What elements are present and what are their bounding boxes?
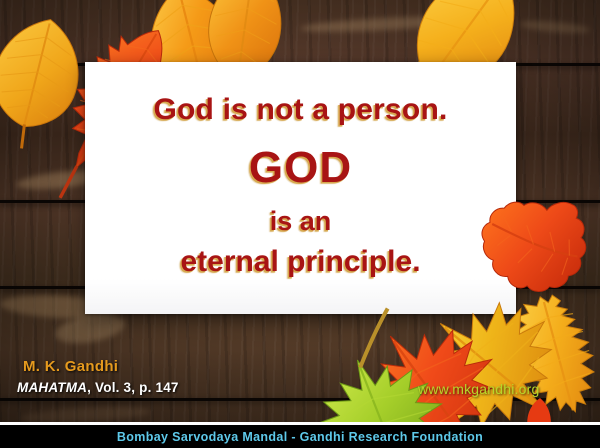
quote-line-4: eternal principle.	[85, 244, 516, 281]
quote-line-3: is an	[85, 205, 516, 238]
source-citation: MAHATMA, Vol. 3, p. 147	[17, 380, 179, 395]
quote-block: God is not a person. GOD is an eternal p…	[85, 92, 516, 281]
website-url[interactable]: www.mkgandhi.org	[418, 381, 539, 397]
footer-banner: Bombay Sarvodaya Mandal - Gandhi Researc…	[0, 425, 600, 448]
quote-line-2: GOD	[85, 141, 516, 195]
organization-name: Bombay Sarvodaya Mandal - Gandhi Researc…	[117, 430, 483, 444]
author-name: M. K. Gandhi	[23, 358, 118, 375]
quote-graphic: God is not a person. GOD is an eternal p…	[0, 0, 600, 448]
quote-line-1: God is not a person.	[85, 92, 516, 129]
quote-card: God is not a person. GOD is an eternal p…	[85, 62, 516, 314]
source-title: MAHATMA	[17, 380, 87, 395]
source-detail: , Vol. 3, p. 147	[87, 380, 178, 395]
oak-leaf-red-right	[482, 196, 592, 301]
